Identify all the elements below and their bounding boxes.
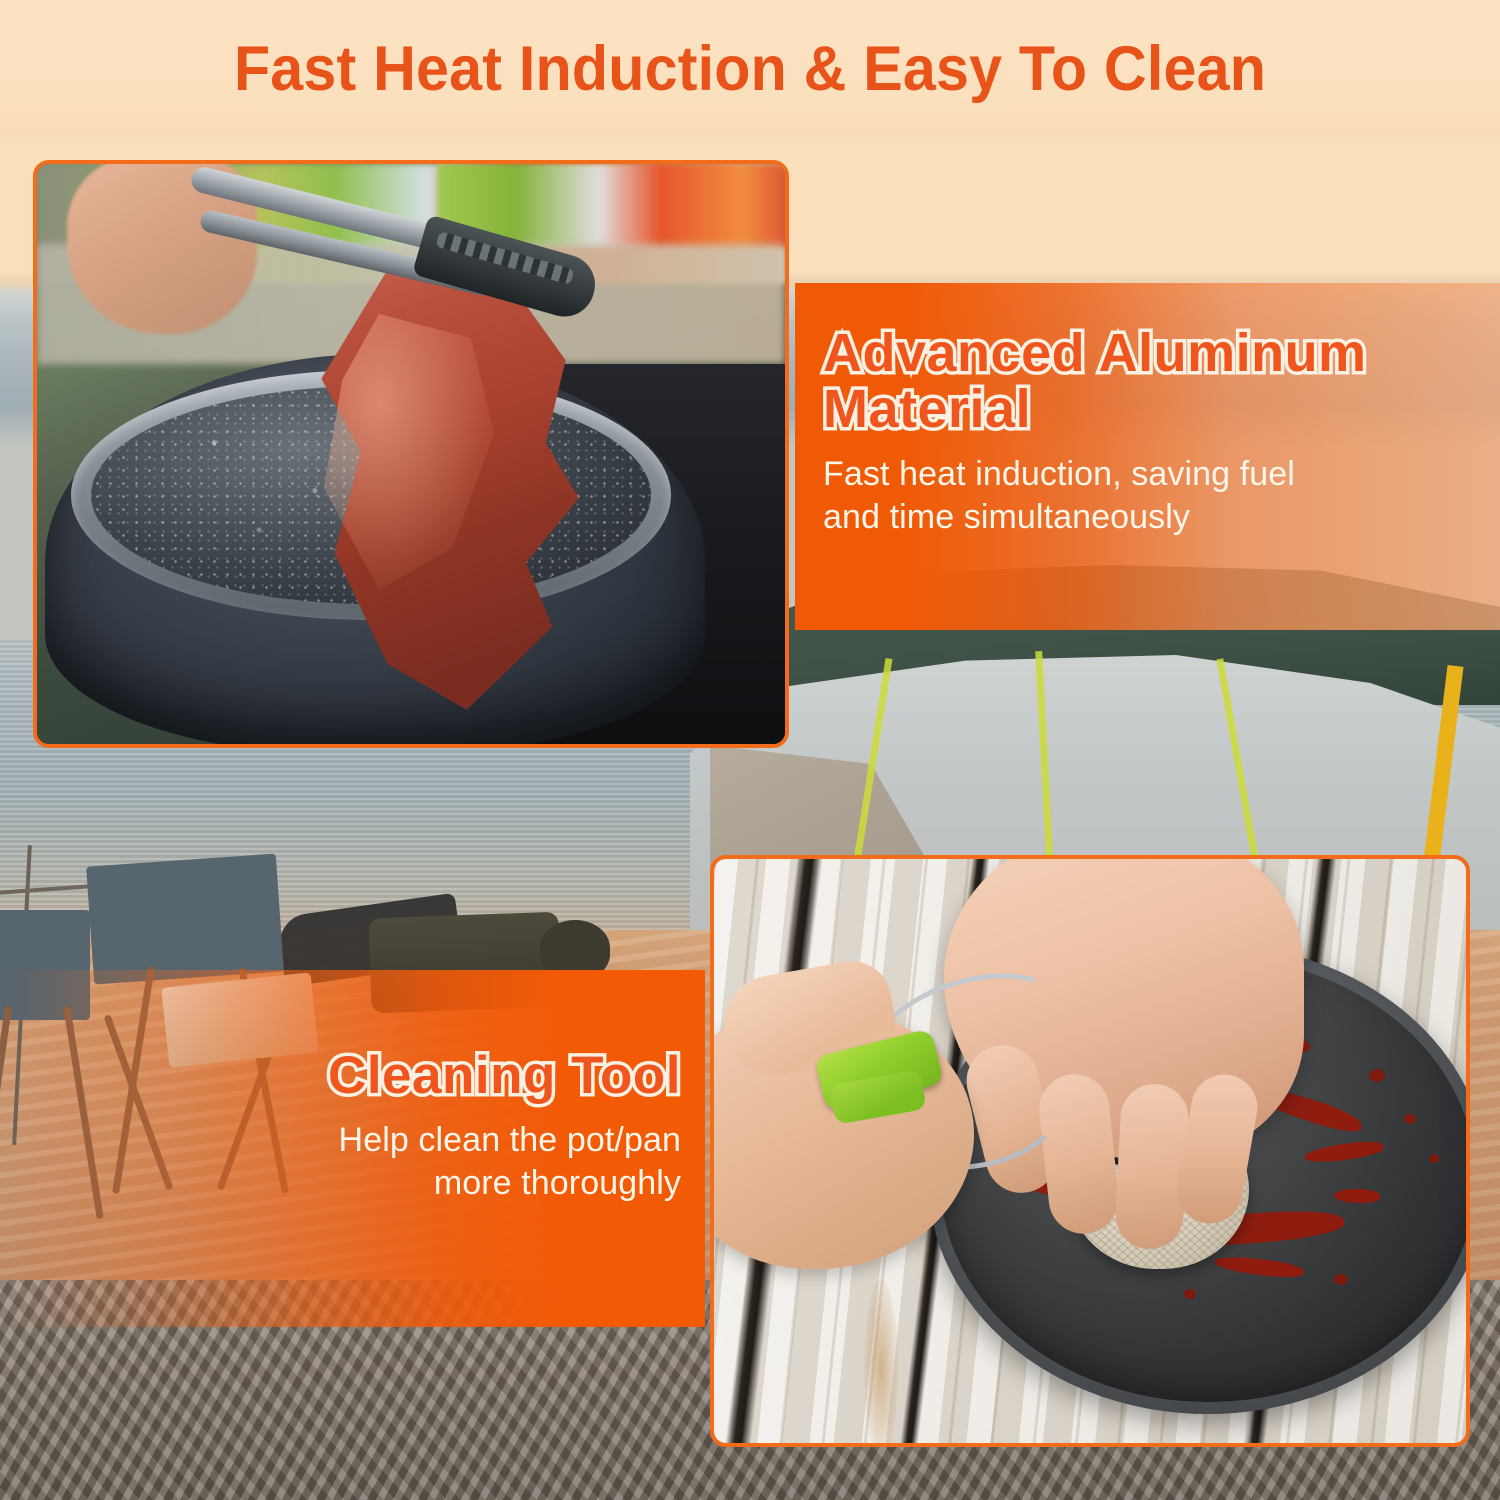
sauce-droplet — [1334, 1274, 1348, 1285]
photo-scene-cooking-steak — [37, 164, 785, 744]
product-feature-poster: Fast Heat Induction & Easy To Clean — [0, 0, 1500, 1500]
feature-heading-advanced-aluminum-material: Advanced Aluminum Material — [823, 325, 1420, 437]
feature-body-line1: Fast heat induction, saving fuel — [823, 453, 1420, 496]
sauce-droplet — [1184, 1289, 1196, 1299]
wood-rust-stain — [864, 1279, 898, 1443]
feature-heading-line2: Material — [823, 381, 1420, 437]
page-title: Fast Heat Induction & Easy To Clean — [234, 33, 1266, 105]
feature-body-line1: Help clean the pot/pan — [40, 1119, 681, 1162]
poster-header: Fast Heat Induction & Easy To Clean — [0, 0, 1500, 138]
hand-finger — [1114, 1082, 1191, 1250]
feature-body-advanced-aluminum-material: Fast heat induction, saving fuel and tim… — [823, 453, 1420, 539]
photo-scene-cleaning-pan — [714, 859, 1466, 1443]
feature-heading-line1: Advanced Aluminum — [823, 325, 1420, 381]
feature-banner-cleaning-tool: Cleaning Tool Help clean the pot/pan mor… — [0, 970, 705, 1327]
feature-banner-advanced-aluminum-material: Advanced Aluminum Material Fast heat ind… — [795, 283, 1500, 630]
feature-heading-cleaning-tool: Cleaning Tool — [40, 1048, 681, 1103]
feature-photo-advanced-aluminum-material — [33, 160, 789, 748]
cooking-tongs — [187, 194, 607, 304]
feature-body-line2: and time simultaneously — [823, 496, 1420, 539]
sauce-droplet — [1369, 1069, 1385, 1082]
sauce-droplet — [1429, 1154, 1439, 1163]
sauce-droplet — [1404, 1114, 1416, 1124]
feature-photo-cleaning-tool — [710, 855, 1470, 1447]
feature-body-line2: more thoroughly — [40, 1162, 681, 1205]
banner-content: Advanced Aluminum Material Fast heat ind… — [823, 325, 1420, 539]
banner-content: Cleaning Tool Help clean the pot/pan mor… — [40, 1048, 681, 1205]
feature-body-cleaning-tool: Help clean the pot/pan more thoroughly — [40, 1119, 681, 1205]
